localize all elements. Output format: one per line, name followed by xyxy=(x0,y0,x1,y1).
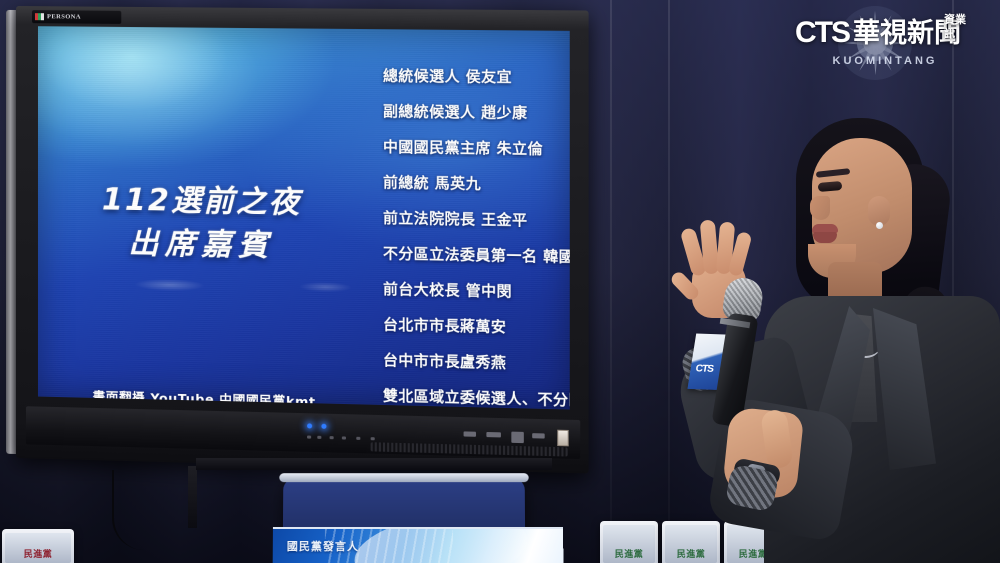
podium: 國民黨發言人 xyxy=(283,478,526,563)
name-plate-text: 民進黨 xyxy=(600,547,658,560)
cts-subtext-line2: 訊 xyxy=(944,28,966,42)
cts-subtext-line1: 資業 xyxy=(944,14,966,28)
usb-port[interactable] xyxy=(464,431,476,436)
stand-leg-left xyxy=(188,466,197,528)
name-plate: 民進黨 xyxy=(2,529,74,563)
guest-list-item: 雙北區域立委候選人、不分區立委候選人 xyxy=(383,380,566,410)
podium-top-edge xyxy=(279,473,528,482)
persona-logo-icon xyxy=(35,13,44,20)
podium-banner: 國民黨發言人 xyxy=(273,527,564,563)
control-marking xyxy=(342,436,346,439)
screen-glare xyxy=(299,281,352,292)
stand-crossbar xyxy=(196,458,552,470)
slide-title-line2: 出席嘉賓 xyxy=(60,221,344,269)
guest-list-item: 前立法院院長 王金平 xyxy=(383,202,566,241)
guest-list-item: 台中市市長盧秀燕 xyxy=(383,344,566,384)
control-marking xyxy=(330,436,334,439)
hdmi-port[interactable] xyxy=(486,432,501,437)
curtain-fold xyxy=(668,0,670,563)
control-marking xyxy=(356,437,360,440)
slide-screen[interactable]: 112選前之夜 出席嘉賓 畫面翻攝 YouTube 中國國民黨kmt 總統候選人… xyxy=(38,26,570,409)
control-marking xyxy=(371,437,375,440)
cts-network-logo: CTS 華視新聞 xyxy=(795,18,961,48)
status-led-indicator xyxy=(321,424,326,429)
guest-list: 總統候選人 侯友宜 副總統候選人 趙少康 中國國民黨主席 朱立倫 前總統 馬英九… xyxy=(383,60,566,410)
interactive-whiteboard[interactable]: PERSONA 112選前之夜 出席嘉賓 畫面翻攝 YouTube 中國國民黨k… xyxy=(16,6,589,474)
bezel-sticker xyxy=(557,430,568,447)
guest-list-item: 中國國民黨主席 朱立倫 xyxy=(383,131,566,169)
vga-port[interactable] xyxy=(511,432,523,444)
guest-list-item: 副總統候選人 趙少康 xyxy=(383,95,566,133)
guest-list-item: 不分區立法委員第一名 韓國瑜 xyxy=(383,237,566,276)
cts-logo-subtext: 資業 訊 xyxy=(944,14,966,42)
broadcast-screenshot: KUOMINTANG CTS 華視新聞 資業 訊 PERSONA 112選前之夜… xyxy=(0,0,1000,563)
audio-port[interactable] xyxy=(532,433,545,438)
guest-list-item: 總統候選人 侯友宜 xyxy=(383,60,566,98)
mic-flag-label: CTS xyxy=(695,363,714,374)
name-plate-text: 民進黨 xyxy=(2,547,74,560)
control-marking xyxy=(317,436,321,439)
board-brand-label: PERSONA xyxy=(47,13,81,20)
slide-title: 112選前之夜 出席嘉賓 xyxy=(60,179,344,270)
screen-glare xyxy=(134,278,205,291)
power-led-indicator xyxy=(307,423,312,428)
curtain-fold xyxy=(610,0,612,563)
kuomintang-wordmark: KUOMINTANG xyxy=(810,55,960,67)
podium-banner-text: 國民黨發言人 xyxy=(287,538,359,554)
slide-title-line1: 112選前之夜 xyxy=(60,179,344,227)
guest-list-item: 前台大校長 管中閔 xyxy=(383,273,566,312)
name-plate: 民進黨 xyxy=(600,521,658,563)
presenter: CTS xyxy=(700,110,1000,563)
presenter-lower-lip xyxy=(813,232,837,243)
control-marking xyxy=(307,436,311,439)
cts-logo-mark: CTS xyxy=(795,18,849,48)
board-brand-plate: PERSONA xyxy=(32,10,121,24)
presenter-nose xyxy=(810,196,830,220)
guest-list-item: 前總統 馬英九 xyxy=(383,166,566,204)
screen-glare xyxy=(38,26,260,149)
guest-list-item: 台北市市長蔣萬安 xyxy=(383,308,566,348)
presenter-earring xyxy=(876,222,883,229)
